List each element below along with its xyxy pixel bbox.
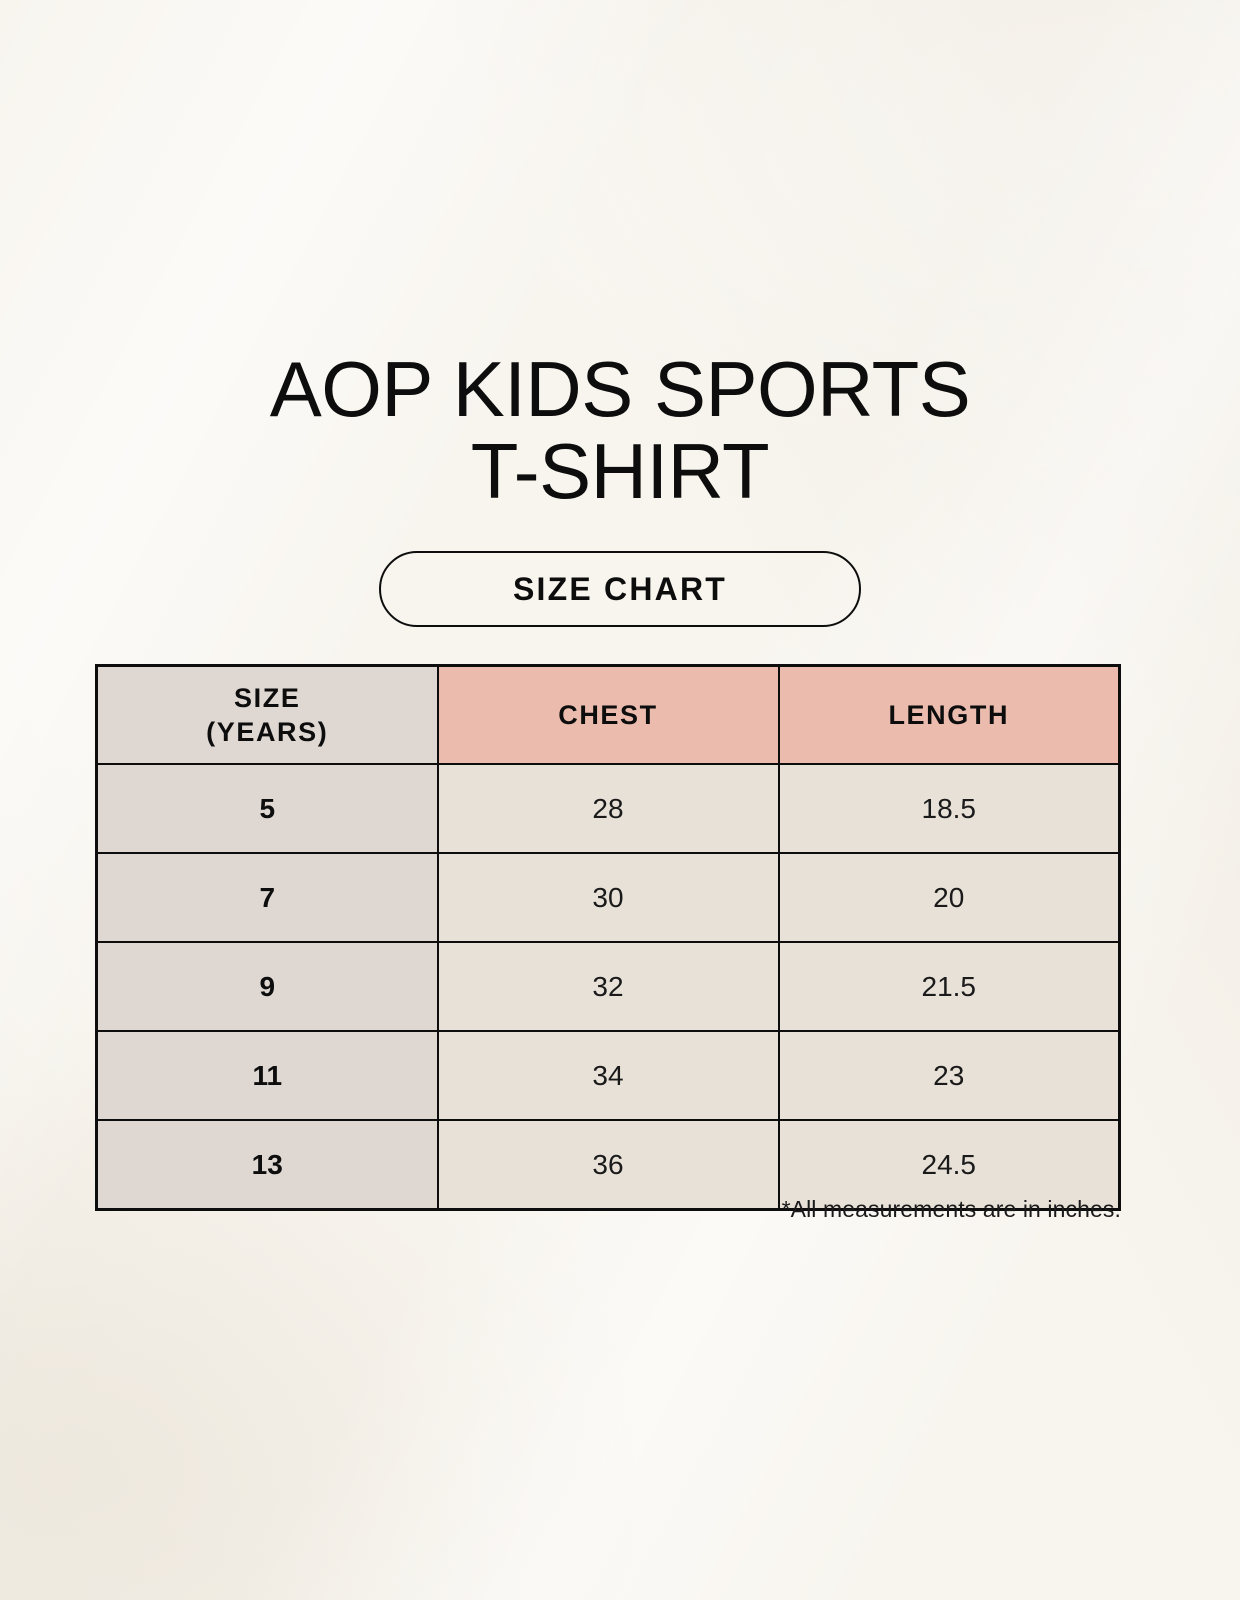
cell-chest: 34 <box>438 1031 779 1120</box>
cell-size: 5 <box>97 764 438 853</box>
cell-chest: 28 <box>438 764 779 853</box>
size-chart-table: SIZE (YEARS) CHEST LENGTH 5 28 18.5 7 30… <box>95 664 1121 1211</box>
cell-length: 23 <box>779 1031 1120 1120</box>
table-row: 5 28 18.5 <box>97 764 1120 853</box>
cell-length: 20 <box>779 853 1120 942</box>
cell-size: 7 <box>97 853 438 942</box>
cell-length: 21.5 <box>779 942 1120 1031</box>
size-chart-badge: SIZE CHART <box>379 551 861 627</box>
cell-chest: 32 <box>438 942 779 1031</box>
column-header-size-line-1: SIZE <box>98 681 437 715</box>
cell-size: 9 <box>97 942 438 1031</box>
size-chart-sheet: AOP KIDS SPORTS T-SHIRT SIZE CHART SIZE … <box>0 0 1240 1600</box>
measurements-footnote: *All measurements are in inches. <box>95 1196 1121 1223</box>
column-header-length: LENGTH <box>779 666 1120 765</box>
size-chart-table-container: SIZE (YEARS) CHEST LENGTH 5 28 18.5 7 30… <box>95 664 1121 1211</box>
size-chart-badge-container: SIZE CHART <box>0 551 1240 627</box>
column-header-size-line-2: (YEARS) <box>98 715 437 749</box>
cell-chest: 30 <box>438 853 779 942</box>
page-title: AOP KIDS SPORTS T-SHIRT <box>0 348 1240 512</box>
table-header-row: SIZE (YEARS) CHEST LENGTH <box>97 666 1120 765</box>
cell-size: 11 <box>97 1031 438 1120</box>
table-header: SIZE (YEARS) CHEST LENGTH <box>97 666 1120 765</box>
table-row: 11 34 23 <box>97 1031 1120 1120</box>
column-header-size: SIZE (YEARS) <box>97 666 438 765</box>
page-title-line-1: AOP KIDS SPORTS <box>0 348 1240 430</box>
table-row: 7 30 20 <box>97 853 1120 942</box>
size-chart-badge-label: SIZE CHART <box>513 571 727 608</box>
column-header-chest: CHEST <box>438 666 779 765</box>
table-body: 5 28 18.5 7 30 20 9 32 21.5 11 34 23 <box>97 764 1120 1210</box>
page-title-line-2: T-SHIRT <box>0 430 1240 512</box>
table-row: 9 32 21.5 <box>97 942 1120 1031</box>
cell-length: 18.5 <box>779 764 1120 853</box>
